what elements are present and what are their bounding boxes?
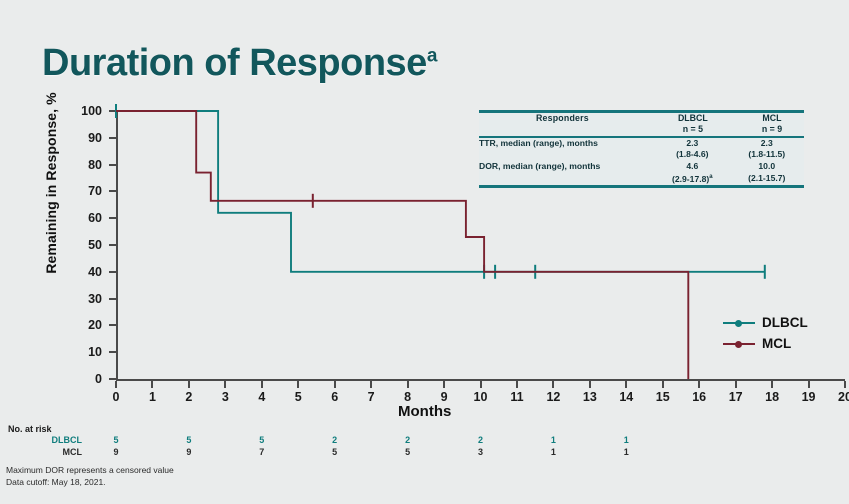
y-tick-label: 100 xyxy=(68,105,102,118)
legend-marker-dlbcl xyxy=(723,317,755,329)
risk-row: MCL99755311 xyxy=(0,447,849,460)
risk-cell: 2 xyxy=(325,435,345,445)
row-ttr-mcl-value: 2.3 xyxy=(761,138,773,148)
x-tick xyxy=(188,381,190,388)
x-tick xyxy=(808,381,810,388)
chart-legend: DLBCL MCL xyxy=(723,312,808,354)
risk-cell: 5 xyxy=(179,435,199,445)
row-dor-dlbcl-superscript: a xyxy=(709,174,712,180)
row-ttr-dlbcl-range: (1.8-4.6) xyxy=(676,149,708,159)
risk-cell: 1 xyxy=(616,447,636,457)
header-mcl-label: MCL xyxy=(762,113,781,123)
x-tick-label: 17 xyxy=(723,391,749,404)
risk-cell: 7 xyxy=(252,447,272,457)
header-dlbcl-n: n = 5 xyxy=(683,124,703,134)
header-responders: Responders xyxy=(479,113,646,136)
risk-cell: 1 xyxy=(543,447,563,457)
x-tick-label: 14 xyxy=(613,391,639,404)
risk-cell: 1 xyxy=(543,435,563,445)
x-tick-label: 12 xyxy=(540,391,566,404)
legend-label-dlbcl: DLBCL xyxy=(762,315,808,330)
row-dor-mcl-range: (2.1-15.7) xyxy=(748,173,785,183)
y-tick-label: 90 xyxy=(68,132,102,145)
y-tick-label: 50 xyxy=(68,239,102,252)
summary-table: Responders DLBCL n = 5 MCL n = 9 xyxy=(479,113,804,136)
x-tick xyxy=(516,381,518,388)
y-tick-label: 0 xyxy=(68,373,102,386)
survival-curves xyxy=(0,0,849,504)
table-header-row: Responders DLBCL n = 5 MCL n = 9 xyxy=(479,113,804,136)
x-tick xyxy=(552,381,554,388)
x-tick-label: 5 xyxy=(285,391,311,404)
y-tick xyxy=(109,324,116,326)
risk-row-label: MCL xyxy=(12,447,82,457)
footnote-1: Maximum DOR represents a censored value xyxy=(6,464,174,476)
y-axis-title: Remaining in Response, % xyxy=(43,48,59,318)
y-tick xyxy=(109,217,116,219)
y-tick-label: 70 xyxy=(68,185,102,198)
row-dor-dlbcl: 4.6 (2.9-17.8)a xyxy=(655,161,729,185)
summary-table-body: TTR, median (range), months 2.3 (1.8-4.6… xyxy=(479,138,804,185)
x-tick-label: 10 xyxy=(468,391,494,404)
row-ttr-mcl-range: (1.8-11.5) xyxy=(748,149,785,159)
x-tick-label: 16 xyxy=(686,391,712,404)
y-tick xyxy=(109,244,116,246)
risk-cell: 5 xyxy=(398,447,418,457)
legend-item-mcl: MCL xyxy=(723,333,808,354)
x-tick-label: 4 xyxy=(249,391,275,404)
x-tick-label: 1 xyxy=(139,391,165,404)
x-tick xyxy=(115,381,117,388)
x-tick xyxy=(370,381,372,388)
y-tick-label: 80 xyxy=(68,159,102,172)
x-tick-label: 19 xyxy=(796,391,822,404)
table-row: TTR, median (range), months 2.3 (1.8-4.6… xyxy=(479,138,804,161)
risk-cell: 3 xyxy=(471,447,491,457)
footnote-2: Data cutoff: May 18, 2021. xyxy=(6,476,174,488)
y-tick xyxy=(109,378,116,380)
y-tick xyxy=(109,190,116,192)
x-tick-label: 3 xyxy=(212,391,238,404)
risk-cell: 9 xyxy=(106,447,126,457)
y-tick xyxy=(109,164,116,166)
table-bottom-rule xyxy=(479,185,804,188)
row-ttr-dlbcl-value: 2.3 xyxy=(686,138,698,148)
y-axis-line xyxy=(116,111,118,380)
x-tick xyxy=(261,381,263,388)
legend-label-mcl: MCL xyxy=(762,336,791,351)
x-tick xyxy=(589,381,591,388)
x-tick xyxy=(480,381,482,388)
footnotes: Maximum DOR represents a censored value … xyxy=(6,464,174,489)
row-dor-mcl-value: 10.0 xyxy=(758,161,775,171)
x-tick-label: 15 xyxy=(650,391,676,404)
x-tick xyxy=(334,381,336,388)
row-ttr-mcl: 2.3 (1.8-11.5) xyxy=(730,138,804,161)
x-tick xyxy=(662,381,664,388)
risk-cell: 5 xyxy=(252,435,272,445)
x-tick xyxy=(407,381,409,388)
x-tick-label: 20 xyxy=(832,391,849,404)
legend-dot-dlbcl xyxy=(735,320,742,327)
legend-item-dlbcl: DLBCL xyxy=(723,312,808,333)
x-tick xyxy=(151,381,153,388)
x-tick-label: 11 xyxy=(504,391,530,404)
y-tick xyxy=(109,110,116,112)
x-tick xyxy=(735,381,737,388)
row-dor-dlbcl-range: (2.9-17.8) xyxy=(672,173,709,183)
header-mcl: MCL n = 9 xyxy=(740,113,804,136)
x-tick-label: 6 xyxy=(322,391,348,404)
y-tick xyxy=(109,137,116,139)
header-dlbcl: DLBCL n = 5 xyxy=(646,113,740,136)
x-tick xyxy=(443,381,445,388)
slide-canvas: Duration of Responsea Remaining in Respo… xyxy=(0,0,849,504)
x-tick xyxy=(771,381,773,388)
risk-cell: 5 xyxy=(106,435,126,445)
x-tick-label: 18 xyxy=(759,391,785,404)
x-tick-label: 8 xyxy=(395,391,421,404)
header-mcl-n: n = 9 xyxy=(762,124,782,134)
x-tick-label: 13 xyxy=(577,391,603,404)
header-dlbcl-label: DLBCL xyxy=(678,113,708,123)
x-tick xyxy=(224,381,226,388)
risk-cell: 2 xyxy=(471,435,491,445)
summary-table-head: Responders DLBCL n = 5 MCL n = 9 xyxy=(479,113,804,136)
risk-cell: 2 xyxy=(398,435,418,445)
risk-row-label: DLBCL xyxy=(12,435,82,445)
response-summary-table: Responders DLBCL n = 5 MCL n = 9 TTR, me… xyxy=(479,110,804,188)
row-ttr-dlbcl: 2.3 (1.8-4.6) xyxy=(655,138,729,161)
row-label-dor: DOR, median (range), months xyxy=(479,161,655,185)
x-tick-label: 2 xyxy=(176,391,202,404)
kaplan-meier-chart: Remaining in Response, % Months 10090807… xyxy=(0,0,849,504)
y-tick-label: 10 xyxy=(68,346,102,359)
risk-cell: 9 xyxy=(179,447,199,457)
y-tick-label: 40 xyxy=(68,266,102,279)
risk-cell: 1 xyxy=(616,435,636,445)
risk-cell: 5 xyxy=(325,447,345,457)
y-tick-label: 60 xyxy=(68,212,102,225)
y-tick-label: 30 xyxy=(68,293,102,306)
y-tick-label: 20 xyxy=(68,319,102,332)
legend-dot-mcl xyxy=(735,341,742,348)
row-dor-mcl: 10.0 (2.1-15.7) xyxy=(730,161,804,185)
y-tick xyxy=(109,271,116,273)
x-tick-label: 9 xyxy=(431,391,457,404)
row-label-ttr: TTR, median (range), months xyxy=(479,138,655,161)
x-tick xyxy=(698,381,700,388)
x-tick-label: 7 xyxy=(358,391,384,404)
x-tick xyxy=(297,381,299,388)
x-tick-label: 0 xyxy=(103,391,129,404)
y-tick xyxy=(109,351,116,353)
legend-marker-mcl xyxy=(723,338,755,350)
x-axis-title: Months xyxy=(398,403,451,420)
summary-table-body-wrap: TTR, median (range), months 2.3 (1.8-4.6… xyxy=(479,138,804,185)
row-dor-dlbcl-value: 4.6 xyxy=(686,161,698,171)
numbers-at-risk-title: No. at risk xyxy=(8,424,52,434)
x-tick xyxy=(625,381,627,388)
table-row: DOR, median (range), months 4.6 (2.9-17.… xyxy=(479,161,804,185)
x-tick xyxy=(844,381,846,388)
y-tick xyxy=(109,298,116,300)
